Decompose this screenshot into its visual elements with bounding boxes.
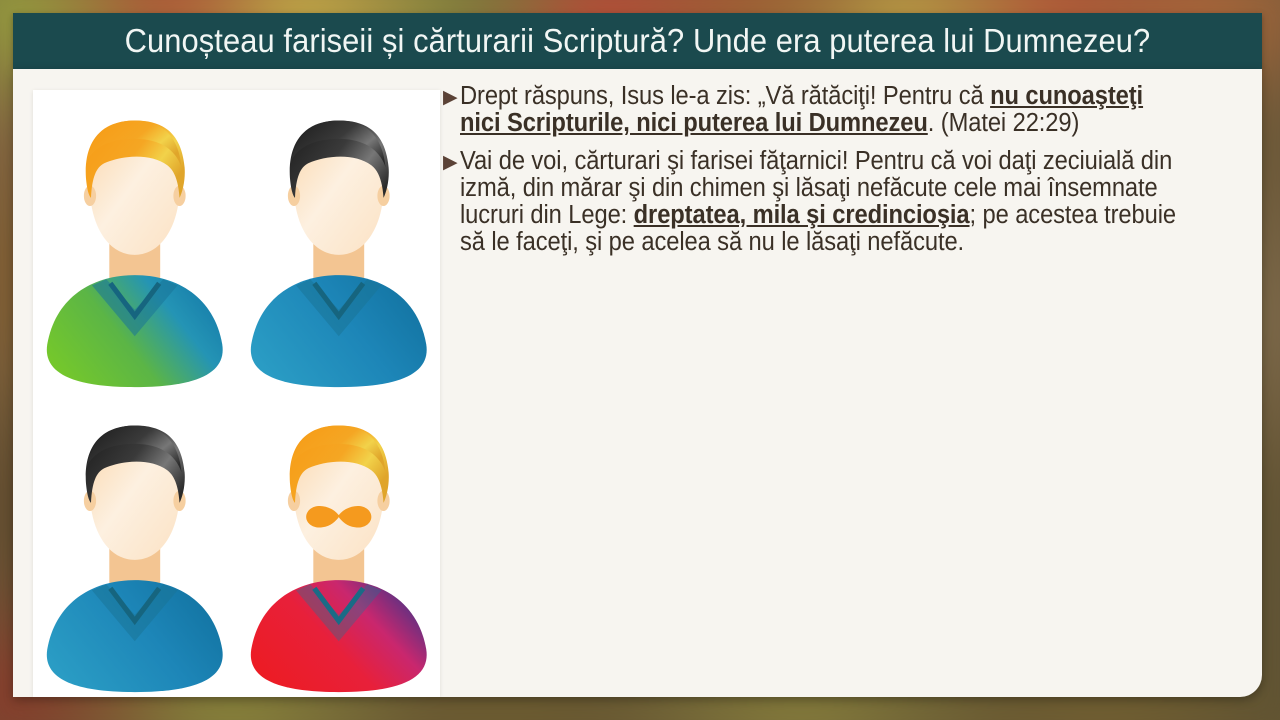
avatar-dark-blue-shirt-2: [33, 395, 237, 697]
bullet-1-part-3: . (Matei 22:29): [927, 109, 1079, 137]
bullet-triangle-icon: ▶: [443, 153, 458, 172]
body-text-area: ▶ Drept răspuns, Isus le-a zis: „Vă rătă…: [443, 83, 1243, 683]
slide-title-bar: Cunoșteau fariseii și cărturarii Scriptu…: [13, 13, 1262, 69]
avatar-illustration-3: [33, 395, 237, 697]
bullet-2-emphasis: dreptatea, mila şi credincioşia: [633, 201, 969, 229]
avatar-illustration-4: [237, 395, 441, 697]
avatar-illustration-2: [237, 90, 441, 395]
avatar-dark-blue-shirt: [237, 90, 441, 395]
page-title: Cunoșteau fariseii și cărturarii Scriptu…: [125, 22, 1151, 60]
bullet-item: ▶ Drept răspuns, Isus le-a zis: „Vă rătă…: [443, 83, 1243, 138]
bullet-text-1: Drept răspuns, Isus le-a zis: „Vă rătăci…: [460, 83, 1189, 138]
avatar-grid: [33, 90, 440, 697]
avatar-illustration-1: [33, 90, 237, 395]
bullet-item: ▶ Vai de voi, cărturari şi farisei făţar…: [443, 148, 1243, 257]
bullet-1-part-1: Drept răspuns, Isus le-a zis: „Vă rătăci…: [460, 82, 990, 110]
illustration-panel: [33, 90, 440, 697]
bullet-triangle-icon: ▶: [443, 88, 458, 107]
avatar-blond-mustache-red-shirt: [237, 395, 441, 697]
bullet-text-2: Vai de voi, cărturari şi farisei făţarni…: [460, 148, 1189, 257]
avatar-blond-green-blue-shirt: [33, 90, 237, 395]
slide-content-panel: ▶ Drept răspuns, Isus le-a zis: „Vă rătă…: [13, 69, 1262, 697]
